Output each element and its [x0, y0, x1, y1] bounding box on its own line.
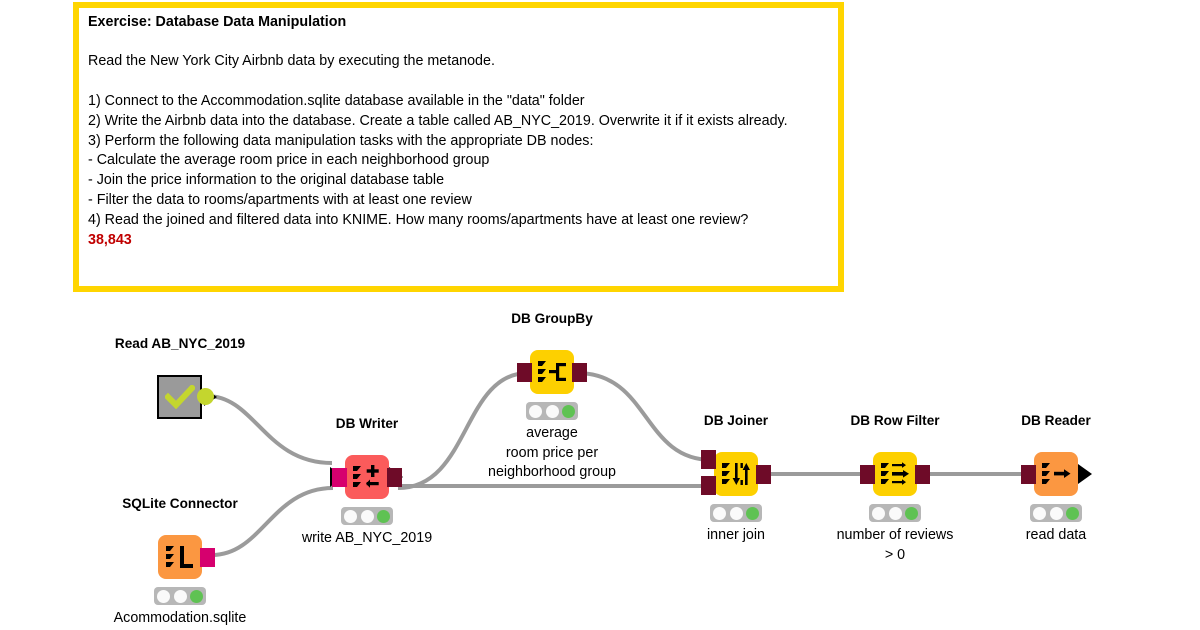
node-subtitle-db-groupby: average room price per neighborhood grou…	[488, 424, 616, 483]
status-lamp-idle	[713, 507, 726, 520]
node-subtitle-db-joiner: inner join	[707, 526, 765, 546]
annotation-step-4: 4) Read the joined and filtered data int…	[88, 211, 830, 231]
port-db-in-db-writer[interactable]	[332, 468, 347, 487]
node-body-db-joiner[interactable]	[714, 452, 758, 496]
annotation-task-join: - Join the price information to the orig…	[88, 171, 830, 191]
node-title-db-reader: DB Reader	[1021, 413, 1091, 428]
status-light-db-reader	[1030, 504, 1082, 522]
status-lamp-idle	[529, 405, 542, 418]
port-db-out-sqlite-connector[interactable]	[200, 548, 215, 567]
node-title-db-groupby: DB GroupBy	[511, 311, 593, 326]
db-row-filter-icon	[873, 452, 917, 496]
db-reader-svg	[1041, 461, 1071, 487]
annotation-answer: 38,843	[88, 231, 830, 251]
port-metanode-out[interactable]	[197, 388, 214, 405]
annotation-task-filter: - Filter the data to rooms/apartments wi…	[88, 191, 830, 211]
status-lamp-idle	[1033, 507, 1046, 520]
node-title-db-joiner: DB Joiner	[704, 413, 768, 428]
port-db-in-db-row-filter[interactable]	[860, 465, 875, 484]
db-connector-icon	[158, 535, 202, 579]
node-body-sqlite-connector[interactable]	[158, 535, 202, 579]
checkmark-icon	[159, 377, 200, 417]
node-subtitle-db-writer: write AB_NYC_2019	[302, 529, 432, 549]
annotation-step-1: 1) Connect to the Accommodation.sqlite d…	[88, 92, 830, 112]
node-body-db-groupby[interactable]	[530, 350, 574, 394]
node-subtitle-sqlite-connector: Acommodation.sqlite	[114, 609, 247, 629]
status-lamp-executed	[1066, 507, 1079, 520]
annotation-task-average-price: - Calculate the average room price in ea…	[88, 151, 830, 171]
status-lamp-queued	[361, 510, 374, 523]
annotation-intro: Read the New York City Airbnb data by ex…	[88, 52, 830, 72]
port-db-in-db-reader[interactable]	[1021, 465, 1036, 484]
port-db-out-db-joiner[interactable]	[756, 465, 771, 484]
node-body-db-row-filter[interactable]	[873, 452, 917, 496]
workflow-annotation: Exercise: Database Data Manipulation Rea…	[73, 2, 844, 292]
annotation-step-3: 3) Perform the following data manipulati…	[88, 132, 830, 152]
db-reader-icon	[1034, 452, 1078, 496]
annotation-spacer	[88, 72, 830, 92]
db-groupby-icon	[530, 350, 574, 394]
status-light-db-joiner	[710, 504, 762, 522]
status-lamp-executed	[746, 507, 759, 520]
node-body-db-writer[interactable]	[345, 455, 389, 499]
status-lamp-executed	[377, 510, 390, 523]
db-joiner-icon	[714, 452, 758, 496]
status-light-db-groupby	[526, 402, 578, 420]
db-connector-svg	[165, 544, 195, 570]
db-row-filter-svg	[880, 461, 910, 487]
port-db-in-db-groupby[interactable]	[517, 363, 532, 382]
node-subtitle-db-row-filter: number of reviews > 0	[837, 526, 954, 565]
db-groupby-svg	[537, 359, 567, 385]
status-light-sqlite-connector	[154, 587, 206, 605]
status-lamp-queued	[889, 507, 902, 520]
status-lamp-executed	[905, 507, 918, 520]
port-db-out-db-groupby[interactable]	[572, 363, 587, 382]
node-title-read-ab-nyc-2019: Read AB_NYC_2019	[115, 336, 245, 351]
checkmark-svg	[165, 385, 195, 409]
node-body-db-reader[interactable]	[1034, 452, 1078, 496]
status-lamp-idle	[157, 590, 170, 603]
port-db-in-top-db-joiner[interactable]	[701, 450, 716, 469]
port-db-out-db-writer[interactable]	[387, 468, 402, 487]
status-lamp-queued	[546, 405, 559, 418]
status-light-db-writer	[341, 507, 393, 525]
port-data-out-db-reader[interactable]	[1078, 464, 1092, 484]
status-lamp-queued	[174, 590, 187, 603]
status-lamp-executed	[562, 405, 575, 418]
status-light-db-row-filter	[869, 504, 921, 522]
port-db-in-bottom-db-joiner[interactable]	[701, 476, 716, 495]
db-joiner-svg	[721, 461, 751, 487]
node-title-sqlite-connector: SQLite Connector	[122, 496, 238, 511]
wire-metanode-to-writer	[207, 396, 332, 463]
port-db-out-db-row-filter[interactable]	[915, 465, 930, 484]
node-title-db-row-filter: DB Row Filter	[850, 413, 939, 428]
workflow-canvas[interactable]: Read AB_NYC_2019 SQLite Connector	[0, 300, 1200, 630]
status-lamp-idle	[344, 510, 357, 523]
annotation-step-2: 2) Write the Airbnb data into the databa…	[88, 112, 830, 132]
status-lamp-idle	[872, 507, 885, 520]
db-writer-svg	[352, 464, 382, 490]
db-writer-icon	[345, 455, 389, 499]
node-title-db-writer: DB Writer	[336, 416, 398, 431]
status-lamp-queued	[1050, 507, 1063, 520]
annotation-title: Exercise: Database Data Manipulation	[88, 13, 830, 33]
status-lamp-queued	[730, 507, 743, 520]
node-subtitle-db-reader: read data	[1026, 526, 1086, 546]
node-body-metanode[interactable]	[157, 375, 202, 419]
status-lamp-executed	[190, 590, 203, 603]
